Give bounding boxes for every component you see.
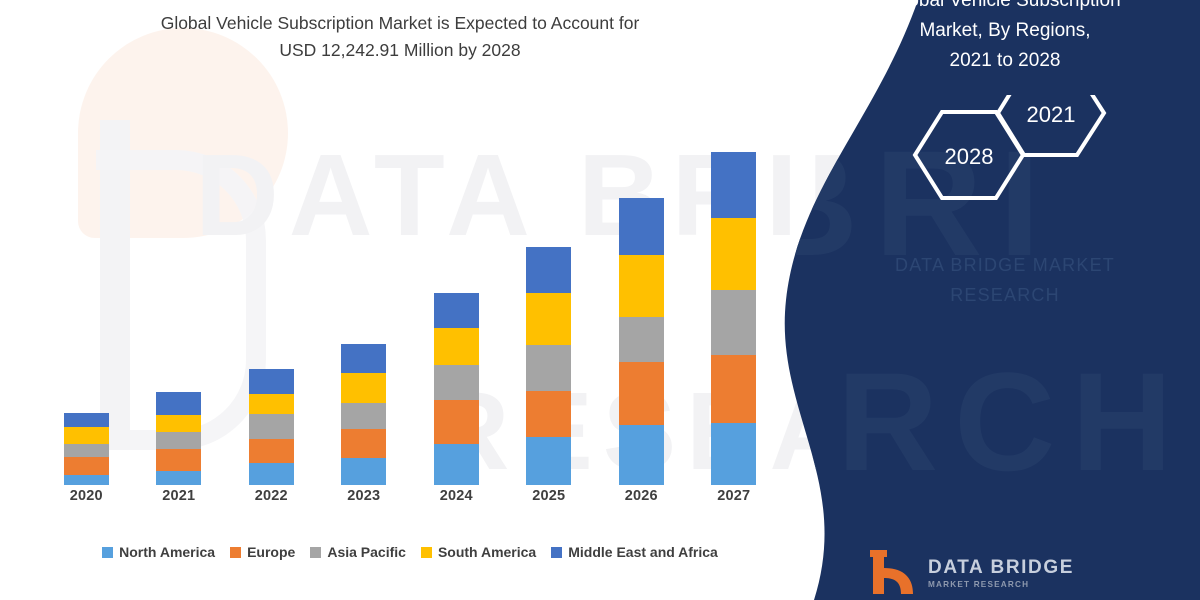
legend-label: Asia Pacific: [327, 544, 406, 560]
bar-segment-europe[interactable]: [711, 355, 756, 422]
bar-segment-north-america[interactable]: [64, 475, 109, 485]
bar-segment-asia-pacific[interactable]: [619, 317, 664, 362]
chart-panel: Global Vehicle Subscription Market is Ex…: [0, 0, 830, 600]
legend-item-north-america[interactable]: North America: [102, 544, 215, 560]
chart-title: Global Vehicle Subscription Market is Ex…: [40, 10, 760, 64]
data-bridge-logo: DATA BRIDGE MARKET RESEARCH: [867, 548, 1082, 600]
logo-sub-text: MARKET RESEARCH: [928, 581, 1074, 589]
stacked-bar-2021[interactable]: [156, 392, 201, 485]
bar-segment-north-america[interactable]: [526, 437, 571, 485]
bar-segment-south-america[interactable]: [64, 427, 109, 443]
chart-legend: North AmericaEuropeAsia PacificSouth Ame…: [40, 540, 780, 564]
chart-title-line1: Global Vehicle Subscription Market is Ex…: [40, 10, 760, 37]
bar-segment-middle-east-and-africa[interactable]: [526, 247, 571, 293]
x-tick-2024: 2024: [410, 488, 503, 518]
legend-label: Europe: [247, 544, 295, 560]
bar-segment-asia-pacific[interactable]: [64, 444, 109, 457]
infographic-root: DATA BRIDGE RESEARCH Global Vehicle Subs…: [0, 0, 1200, 600]
legend-swatch-icon: [310, 547, 321, 558]
bar-segment-europe[interactable]: [619, 362, 664, 424]
bar-slot: [688, 120, 781, 485]
bar-segment-north-america[interactable]: [434, 444, 479, 485]
navy-panel: BRI ARCH: [780, 0, 1200, 600]
stacked-bar-2020[interactable]: [64, 413, 109, 485]
legend-swatch-icon: [102, 547, 113, 558]
bar-segment-middle-east-and-africa[interactable]: [64, 413, 109, 427]
bar-segment-asia-pacific[interactable]: [249, 414, 294, 439]
stacked-bar-2025[interactable]: [526, 247, 571, 485]
bar-segment-asia-pacific[interactable]: [341, 403, 386, 429]
chart-title-line2: USD 12,242.91 Million by 2028: [40, 37, 760, 64]
bar-segment-south-america[interactable]: [434, 328, 479, 365]
chart-plot-area: [40, 120, 780, 485]
bar-segment-asia-pacific[interactable]: [156, 432, 201, 448]
legend-swatch-icon: [551, 547, 562, 558]
bar-segment-north-america[interactable]: [249, 463, 294, 485]
x-tick-2023: 2023: [318, 488, 411, 518]
legend-item-europe[interactable]: Europe: [230, 544, 295, 560]
x-axis-tick-labels: 20202021202220232024202520262027: [40, 488, 780, 518]
bar-slot: [318, 120, 411, 485]
legend-item-asia-pacific[interactable]: Asia Pacific: [310, 544, 406, 560]
legend-item-south-america[interactable]: South America: [421, 544, 536, 560]
stacked-bar-2026[interactable]: [619, 198, 664, 485]
bar-segment-europe[interactable]: [249, 439, 294, 463]
bar-slot: [40, 120, 133, 485]
bar-segment-north-america[interactable]: [619, 425, 664, 486]
bar-segment-asia-pacific[interactable]: [434, 365, 479, 400]
bar-slot: [595, 120, 688, 485]
bridge-icon: [867, 550, 919, 598]
bar-slot: [410, 120, 503, 485]
bar-slot: [225, 120, 318, 485]
bar-segment-south-america[interactable]: [711, 218, 756, 290]
navy-panel-clip: BRI ARCH: [780, 0, 1200, 600]
navy-panel-shape: BRI ARCH: [780, 0, 1200, 600]
legend-swatch-icon: [421, 547, 432, 558]
logo-text: DATA BRIDGE MARKET RESEARCH: [928, 558, 1074, 589]
bar-segment-europe[interactable]: [526, 391, 571, 437]
svg-text:ARCH: ARCH: [780, 343, 1188, 500]
bar-segment-north-america[interactable]: [156, 471, 201, 485]
legend-item-middle-east-and-africa[interactable]: Middle East and Africa: [551, 544, 718, 560]
bar-segment-middle-east-and-africa[interactable]: [434, 293, 479, 329]
stacked-bar-group: [40, 120, 780, 485]
svg-text:BRI: BRI: [780, 119, 1056, 287]
bar-segment-asia-pacific[interactable]: [711, 290, 756, 355]
x-tick-2025: 2025: [503, 488, 596, 518]
x-tick-2027: 2027: [688, 488, 781, 518]
stacked-bar-2027[interactable]: [711, 152, 756, 485]
stacked-bar-2024[interactable]: [434, 293, 479, 485]
bar-segment-europe[interactable]: [434, 400, 479, 444]
bar-segment-south-america[interactable]: [156, 415, 201, 432]
x-tick-2022: 2022: [225, 488, 318, 518]
bar-segment-middle-east-and-africa[interactable]: [156, 392, 201, 415]
bar-segment-middle-east-and-africa[interactable]: [249, 369, 294, 394]
legend-label: South America: [438, 544, 536, 560]
bar-segment-north-america[interactable]: [711, 423, 756, 485]
bar-slot: [133, 120, 226, 485]
stacked-bar-2022[interactable]: [249, 369, 294, 485]
bar-segment-south-america[interactable]: [249, 394, 294, 414]
legend-label: North America: [119, 544, 215, 560]
bar-segment-europe[interactable]: [341, 429, 386, 458]
bar-segment-north-america[interactable]: [341, 458, 386, 485]
bar-segment-middle-east-and-africa[interactable]: [341, 344, 386, 373]
bar-segment-middle-east-and-africa[interactable]: [711, 152, 756, 218]
bar-segment-asia-pacific[interactable]: [526, 345, 571, 391]
logo-main-text: DATA BRIDGE: [928, 558, 1074, 577]
x-tick-2021: 2021: [133, 488, 226, 518]
bar-segment-south-america[interactable]: [341, 373, 386, 404]
bar-segment-europe[interactable]: [156, 449, 201, 471]
x-tick-2026: 2026: [595, 488, 688, 518]
bar-segment-south-america[interactable]: [619, 255, 664, 316]
x-tick-2020: 2020: [40, 488, 133, 518]
bar-slot: [503, 120, 596, 485]
legend-label: Middle East and Africa: [568, 544, 718, 560]
bar-segment-middle-east-and-africa[interactable]: [619, 198, 664, 256]
bar-segment-south-america[interactable]: [526, 293, 571, 345]
bar-segment-europe[interactable]: [64, 457, 109, 475]
legend-swatch-icon: [230, 547, 241, 558]
stacked-bar-2023[interactable]: [341, 344, 386, 485]
